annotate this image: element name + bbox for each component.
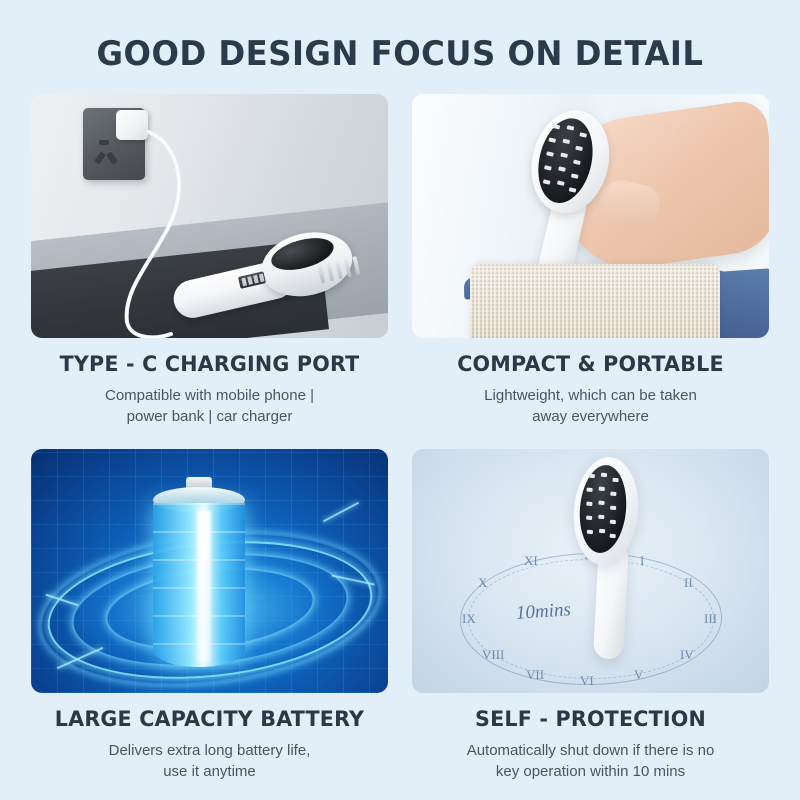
feature-cell-compact-and-portable: COMPACT & PORTABLE Lightweight, which ca… — [412, 94, 769, 449]
battery-graphic — [153, 477, 245, 667]
caption-subtitle-line2: power bank | car charger — [127, 408, 293, 425]
caption-title: TYPE - C CHARGING PORT — [38, 352, 381, 377]
bag-side-panel — [714, 268, 769, 338]
caption-subtitle: Compatible with mobile phone | power ban… — [31, 385, 388, 428]
caption-title: COMPACT & PORTABLE — [419, 352, 762, 377]
caption-subtitle-line1: Automatically shut down if there is no — [467, 742, 715, 759]
caption-subtitle-line1: Lightweight, which can be taken — [484, 387, 697, 404]
clock-numeral: VIII — [482, 647, 504, 663]
caption-subtitle: Lightweight, which can be taken away eve… — [412, 385, 769, 428]
clock-numeral: VII — [526, 667, 544, 683]
caption-subtitle: Automatically shut down if there is no k… — [412, 740, 769, 783]
caption-compact-and-portable: COMPACT & PORTABLE Lightweight, which ca… — [412, 352, 769, 428]
photo-compact-and-portable — [412, 94, 769, 338]
feature-grid: TYPE - C CHARGING PORT Compatible with m… — [31, 94, 769, 784]
caption-subtitle-line1: Delivers extra long battery life, — [109, 742, 311, 759]
caption-subtitle-line1: Compatible with mobile phone | — [105, 387, 314, 404]
clock-numeral: II — [684, 575, 693, 591]
clock-numeral: XI — [524, 553, 538, 569]
clock-numeral: X — [478, 575, 487, 591]
caption-title: SELF - PROTECTION — [419, 707, 762, 732]
clock-numeral: IX — [462, 611, 476, 627]
caption-title: LARGE CAPACITY BATTERY — [38, 707, 381, 732]
caption-subtitle-line2: key operation within 10 mins — [496, 763, 685, 780]
product-feature-infographic: GOOD DESIGN FOCUS ON DETAIL — [0, 0, 800, 800]
caption-subtitle-line2: use it anytime — [163, 763, 256, 780]
clock-numeral: IV — [680, 647, 694, 663]
photo-type-c-charging-port — [31, 94, 388, 338]
caption-self-protection: SELF - PROTECTION Automatically shut dow… — [412, 707, 769, 783]
caption-large-capacity-battery: LARGE CAPACITY BATTERY Delivers extra lo… — [31, 707, 388, 783]
caption-subtitle-line2: away everywhere — [532, 408, 649, 425]
comb-device — [562, 457, 648, 653]
feature-cell-self-protection: XII I II III IV V VI VII VIII IX X XI 10… — [412, 449, 769, 800]
caption-type-c-charging-port: TYPE - C CHARGING PORT Compatible with m… — [31, 352, 388, 428]
photo-large-capacity-battery — [31, 449, 388, 693]
caption-subtitle: Delivers extra long battery life, use it… — [31, 740, 388, 783]
feature-cell-type-c-charging-port: TYPE - C CHARGING PORT Compatible with m… — [31, 94, 388, 449]
photo-self-protection: XII I II III IV V VI VII VIII IX X XI 10… — [412, 449, 769, 693]
clock-numeral: V — [634, 667, 643, 683]
battery-highlight — [197, 511, 211, 663]
feature-cell-large-capacity-battery: LARGE CAPACITY BATTERY Delivers extra lo… — [31, 449, 388, 800]
canvas-pouch — [470, 264, 720, 338]
clock-numeral: III — [704, 611, 717, 627]
page-title: GOOD DESIGN FOCUS ON DETAIL — [20, 34, 780, 74]
clock-numeral: VI — [580, 673, 594, 689]
